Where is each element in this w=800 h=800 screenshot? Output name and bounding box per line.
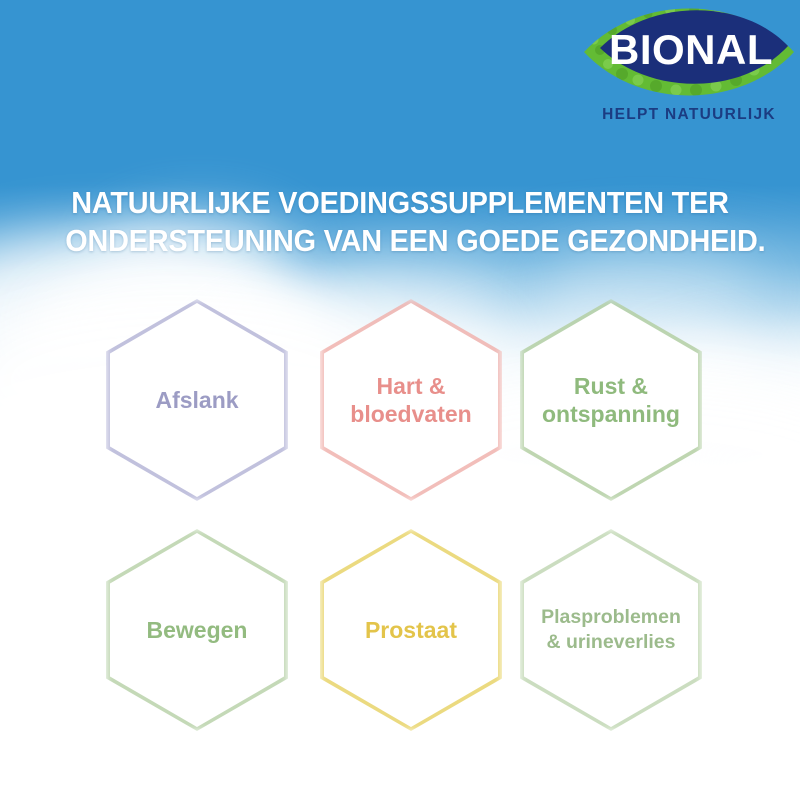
- category-hex-bewegen[interactable]: Bewegen: [110, 533, 284, 727]
- category-hex-afslank[interactable]: Afslank: [110, 303, 284, 497]
- category-label: Hart & bloedvaten: [324, 303, 498, 497]
- category-label: Bewegen: [110, 533, 284, 727]
- category-hex-prostaat[interactable]: Prostaat: [324, 533, 498, 727]
- category-label: Plasproblemen & urineverlies: [524, 533, 698, 727]
- category-label: Afslank: [110, 303, 284, 497]
- category-label: Prostaat: [324, 533, 498, 727]
- category-hex-hart-en-bloedvaten[interactable]: Hart & bloedvaten: [324, 303, 498, 497]
- promo-banner: BIONAL HELPT NATUURLIJK NATUURLIJKE VOED…: [0, 0, 800, 800]
- category-grid: Afslank Hart & bloedvaten Rust & ontspan…: [0, 0, 800, 800]
- category-hex-rust-en-ontspanning[interactable]: Rust & ontspanning: [524, 303, 698, 497]
- category-hex-plasproblemen-en-urineverlies[interactable]: Plasproblemen & urineverlies: [524, 533, 698, 727]
- category-label: Rust & ontspanning: [524, 303, 698, 497]
